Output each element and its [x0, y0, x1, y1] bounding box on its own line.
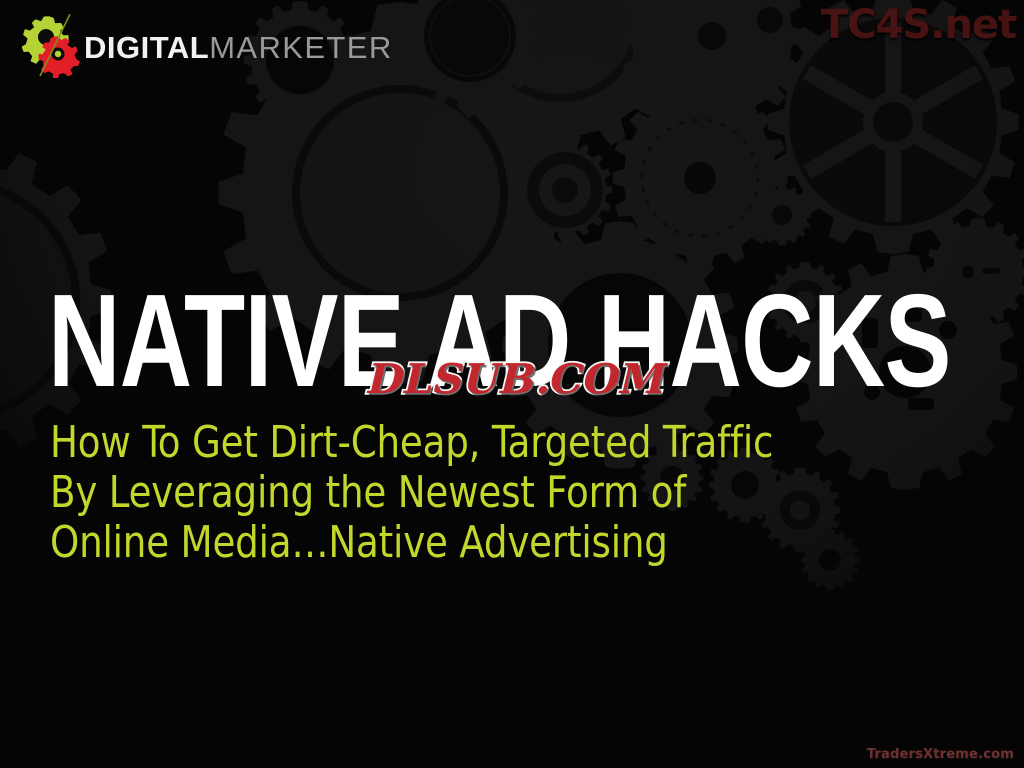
subtitle-line-1: How To Get Dirt-Cheap, Targeted Traffic — [50, 418, 802, 468]
subtitle-line-2: By Leveraging the Newest Form of — [50, 468, 802, 518]
watermark-tc4s: TC4S.net — [821, 2, 1016, 48]
subtitle-line-3: Online Media…Native Advertising — [50, 518, 802, 568]
two-gears-logo-icon — [22, 14, 86, 78]
logo-word-digital: DIGITAL — [84, 30, 209, 65]
presentation-slide: DIGITALMARKETER TC4S.net NATIVE AD HACKS… — [0, 0, 1024, 768]
watermark-tradersxtreme: TradersXtreme.com — [867, 747, 1014, 762]
logo-wordmark: DIGITALMARKETER — [84, 32, 393, 63]
digitalmarketer-logo: DIGITALMARKETER — [22, 14, 393, 78]
slide-subtitle: How To Get Dirt-Cheap, Targeted Traffic … — [50, 418, 802, 568]
logo-word-marketer: MARKETER — [209, 30, 392, 65]
watermark-dlsub: DLSUB.COM — [367, 355, 667, 403]
